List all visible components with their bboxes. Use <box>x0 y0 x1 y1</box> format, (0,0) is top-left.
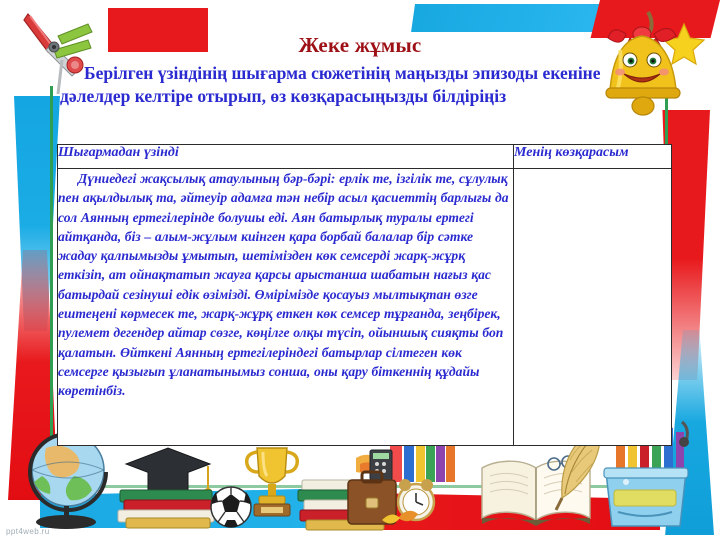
table-header-row: Шығармадан үзінді Менің көзқарасым <box>58 145 672 169</box>
table-row: Дүниедегі жақсылық атаулының бәр-бәрі: е… <box>58 169 672 446</box>
excerpt-cell: Дүниедегі жақсылық атаулының бәр-бәрі: е… <box>58 169 514 446</box>
slide-canvas: Жеке жұмыс Берілген үзіндінің шығарма сю… <box>0 0 720 540</box>
slide-content: Жеке жұмыс Берілген үзіндінің шығарма сю… <box>0 0 720 540</box>
excerpt-text: Дүниедегі жақсылық атаулының бәр-бәрі: е… <box>58 169 513 401</box>
column-header-opinion: Менің көзқарасым <box>514 145 672 169</box>
column-header-excerpt: Шығармадан үзінді <box>58 145 514 169</box>
watermark-label: ppt4web.ru <box>6 527 50 536</box>
task-instruction: Берілген үзіндінің шығарма сюжетінің маң… <box>60 62 660 108</box>
opinion-answer-cell[interactable] <box>514 169 672 446</box>
page-title: Жеке жұмыс <box>0 34 720 57</box>
worksheet-table: Шығармадан үзінді Менің көзқарасым Дүние… <box>57 144 672 446</box>
